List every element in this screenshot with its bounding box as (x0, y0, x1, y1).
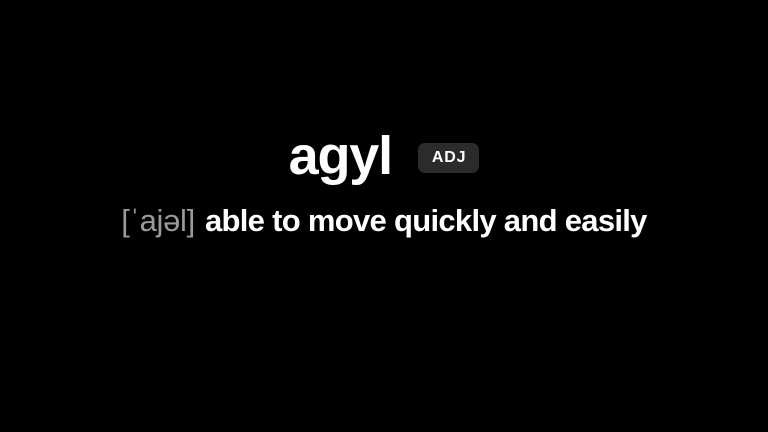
word-headline: agyl (289, 128, 392, 184)
part-of-speech-badge: ADJ (418, 143, 479, 173)
definition-text: able to move quickly and easily (205, 203, 647, 239)
definition-row: [ˈajəl] able to move quickly and easily (0, 203, 768, 239)
phonetic-transcription: [ˈajəl] (121, 203, 195, 239)
headline-row: agyl ADJ (0, 128, 768, 184)
word-card: agyl ADJ [ˈajəl] able to move quickly an… (0, 0, 768, 432)
